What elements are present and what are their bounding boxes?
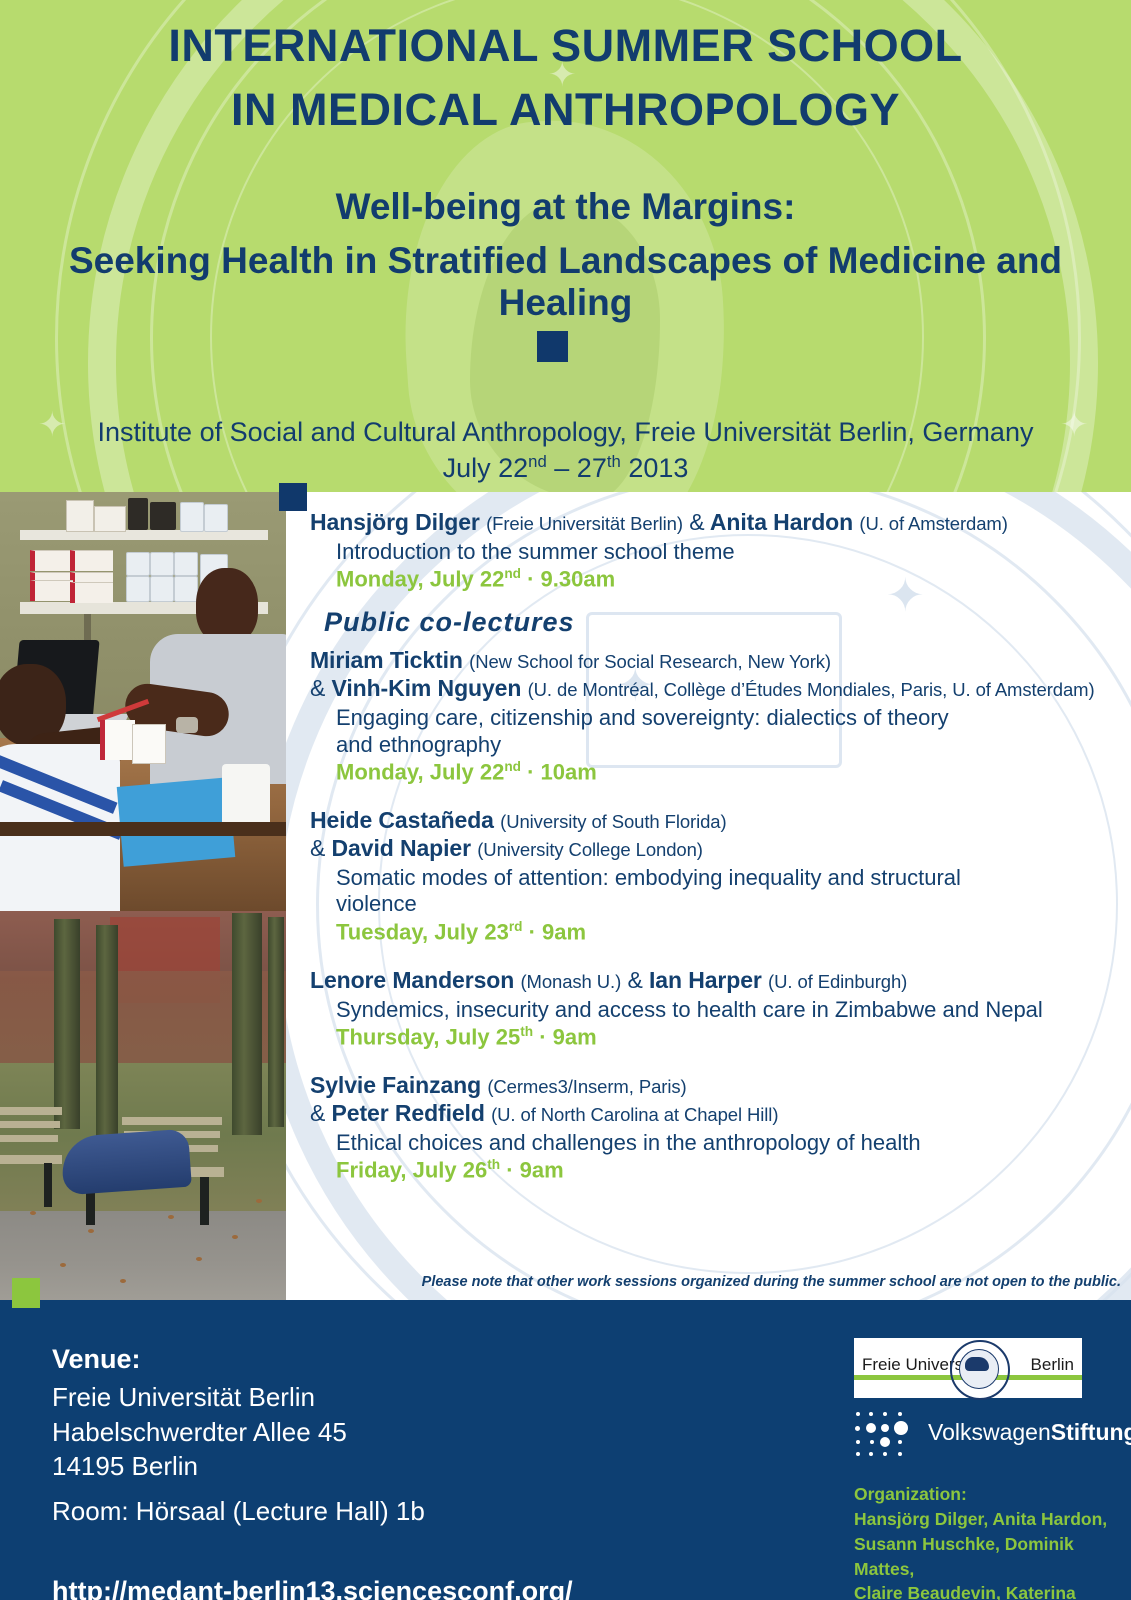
entry-speakers: Sylvie Fainzang (Cermes3/Inserm, Paris) … (310, 1071, 1125, 1127)
venue-line-3: 14195 Berlin (52, 1449, 347, 1484)
venue-label: Venue: (52, 1344, 141, 1375)
entry-datetime: Monday, July 22nd · 9.30am (336, 565, 1125, 593)
entry-speakers: Lenore Manderson (Monash U.) & Ian Harpe… (310, 966, 1125, 994)
vw-name-bold: Stiftung (1051, 1419, 1131, 1445)
entry-talk-line: and ethnography (336, 732, 1125, 758)
volkswagen-dots-icon (854, 1410, 912, 1458)
datetime-suffix: · 9am (500, 1158, 564, 1183)
poster-title-line-1: INTERNATIONAL SUMMER SCHOOL (0, 20, 1131, 72)
entry-datetime: Tuesday, July 23rd · 9am (336, 918, 1125, 946)
speaker-affiliation: (University of South Florida) (500, 811, 726, 832)
speaker-affiliation: (Freie Universität Berlin) (486, 513, 683, 534)
ampersand: & (689, 509, 704, 535)
organization-label: Organization: (854, 1482, 1131, 1507)
university-seal-icon (950, 1340, 1010, 1400)
entry-datetime: Monday, July 22nd · 10am (336, 758, 1125, 786)
datetime-suffix: · 9am (522, 919, 586, 944)
program-entry: Lenore Manderson (Monash U.) & Ian Harpe… (310, 966, 1125, 1051)
entry-speakers: Miriam Ticktin (New School for Social Re… (310, 646, 1125, 702)
organization-block: Organization: Hansjörg Dilger, Anita Har… (854, 1482, 1131, 1600)
organizer-line-2: Susann Huschke, Dominik Mattes, (854, 1532, 1131, 1582)
poster-subtitle-line-1: Well-being at the Margins: (0, 186, 1131, 228)
poster-header: ✦ ✦ ✦ INTERNATIONAL SUMMER SCHOOL IN MED… (0, 0, 1131, 492)
entry-talk-line: Syndemics, insecurity and access to heal… (336, 997, 1125, 1023)
datetime-ordinal: rd (509, 919, 523, 934)
datetime-suffix: · 10am (521, 759, 597, 784)
datetime-ordinal: th (487, 1157, 500, 1172)
program-footnote: Please note that other work sessions org… (286, 1274, 1121, 1290)
speaker-affiliation: (New School for Social Research, New Yor… (469, 651, 831, 672)
poster-title-line-2: IN MEDICAL ANTHROPOLOGY (0, 84, 1131, 136)
freie-universitaet-berlin-logo: Freie Universität Berlin (854, 1338, 1082, 1398)
entry-talk-line: violence (336, 891, 1125, 917)
ampersand: & (310, 675, 325, 701)
datetime-prefix: Friday, July 26 (336, 1158, 487, 1183)
ampersand: & (310, 835, 325, 861)
volkswagenstiftung-wordmark: VolkswagenStiftung (928, 1419, 1131, 1446)
green-accent-square (12, 1278, 40, 1308)
poster-subtitle-line-2: Seeking Health in Stratified Landscapes … (0, 240, 1131, 324)
photo-column (0, 492, 286, 1300)
datetime-prefix: Monday, July 22 (336, 567, 504, 592)
entry-speakers: Heide Castañeda (University of South Flo… (310, 806, 1125, 862)
speaker-affiliation: (U. of Edinburgh) (768, 971, 907, 992)
photo-pharmacy-consultation (0, 492, 286, 911)
logo-text-right: Berlin (1031, 1355, 1074, 1375)
date-suffix: 2013 (621, 453, 689, 483)
program-entry: Sylvie Fainzang (Cermes3/Inserm, Paris) … (310, 1071, 1125, 1184)
datetime-prefix: Monday, July 22 (336, 759, 504, 784)
blue-accent-square (279, 483, 307, 511)
date-prefix: July 22 (443, 453, 529, 483)
conference-url[interactable]: http://medant-berlin13.sciencesconf.org/ (52, 1576, 573, 1600)
datetime-prefix: Thursday, July 25 (336, 1024, 520, 1049)
venue-room: Room: Hörsaal (Lecture Hall) 1b (52, 1496, 425, 1527)
speaker-name: Heide Castañeda (310, 807, 494, 833)
date-ordinal-2: th (607, 452, 621, 471)
speaker-name: Peter Redfield (332, 1100, 485, 1126)
datetime-ordinal: th (520, 1024, 533, 1039)
datetime-suffix: · 9.30am (521, 567, 615, 592)
venue-address: Freie Universität Berlin Habelschwerdter… (52, 1380, 347, 1484)
speaker-name: Sylvie Fainzang (310, 1072, 481, 1098)
venue-line-1: Freie Universität Berlin (52, 1380, 347, 1415)
speaker-affiliation: (University College London) (477, 839, 703, 860)
speaker-name: Hansjörg Dilger (310, 509, 480, 535)
speaker-name: David Napier (332, 835, 471, 861)
datetime-ordinal: nd (504, 759, 521, 774)
datetime-prefix: Tuesday, July 23 (336, 919, 509, 944)
poster-footer: Venue: Freie Universität Berlin Habelsch… (0, 1300, 1131, 1600)
vw-name-light: Volkswagen (928, 1419, 1051, 1445)
date-middle: – 27 (547, 453, 607, 483)
speaker-affiliation: (U. of Amsterdam) (859, 513, 1007, 534)
program-entry: Heide Castañeda (University of South Flo… (310, 806, 1125, 946)
datetime-suffix: · 9am (533, 1024, 597, 1049)
ampersand: & (310, 1100, 325, 1126)
poster: ✦ ✦ ✦ INTERNATIONAL SUMMER SCHOOL IN MED… (0, 0, 1131, 1600)
entry-talk-line: Somatic modes of attention: embodying in… (336, 865, 1125, 891)
speaker-name: Miriam Ticktin (310, 647, 463, 673)
speaker-name: Vinh-Kim Nguyen (332, 675, 522, 701)
speaker-name: Lenore Manderson (310, 967, 514, 993)
speaker-affiliation: (Cermes3/Inserm, Paris) (487, 1076, 686, 1097)
date-ordinal-1: nd (528, 452, 547, 471)
speaker-name: Ian Harper (649, 967, 762, 993)
speaker-affiliation: (Monash U.) (520, 971, 621, 992)
organizer-line-1: Hansjörg Dilger, Anita Hardon, (854, 1507, 1131, 1532)
speaker-name: Anita Hardon (710, 509, 853, 535)
entry-datetime: Thursday, July 25th · 9am (336, 1023, 1125, 1051)
entry-talk-line: Engaging care, citizenship and sovereign… (336, 705, 1125, 731)
entry-talk-line: Ethical choices and challenges in the an… (336, 1130, 1125, 1156)
entry-datetime: Friday, July 26th · 9am (336, 1156, 1125, 1184)
program-entry: Miriam Ticktin (New School for Social Re… (310, 646, 1125, 786)
volkswagenstiftung-logo: VolkswagenStiftung (854, 1410, 1094, 1460)
blue-square-divider (537, 331, 568, 362)
program-entry: Hansjörg Dilger (Freie Universität Berli… (310, 508, 1125, 593)
photo-park-bench (0, 911, 286, 1300)
program-panel: ✦ ✦ Hansjörg Dilger (Freie Universität B… (286, 492, 1131, 1300)
section-heading-public-co-lectures: Public co-lectures (324, 607, 1125, 638)
speaker-affiliation: (U. de Montréal, Collège d’Études Mondia… (528, 679, 1095, 700)
date-line: July 22nd – 27th 2013 (0, 452, 1131, 484)
entry-talk-line: Introduction to the summer school theme (336, 539, 1125, 565)
ampersand: & (627, 967, 642, 993)
entry-speakers: Hansjörg Dilger (Freie Universität Berli… (310, 508, 1125, 536)
venue-line-2: Habelschwerdter Allee 45 (52, 1415, 347, 1450)
datetime-ordinal: nd (504, 566, 521, 581)
speaker-affiliation: (U. of North Carolina at Chapel Hill) (491, 1104, 778, 1125)
institute-line: Institute of Social and Cultural Anthrop… (0, 417, 1131, 448)
organizer-line-3: Claire Beaudevin, Katerina Ferkov (854, 1581, 1131, 1600)
